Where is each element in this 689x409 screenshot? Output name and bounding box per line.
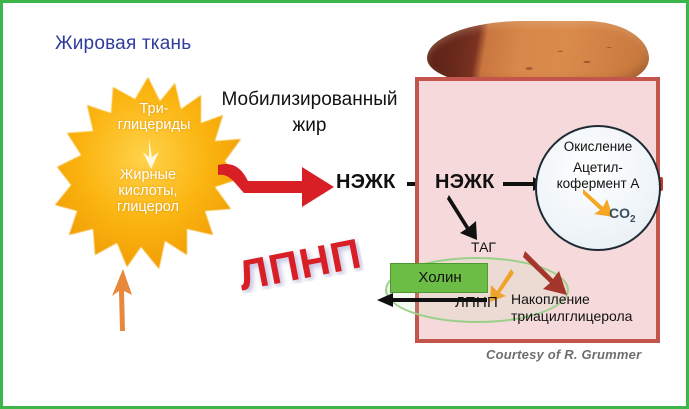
mobilized-fat-line-2: жир — [202, 113, 417, 139]
co2-label: CO2 — [609, 205, 636, 225]
nefa-hepatic-label: НЭЖК — [435, 171, 495, 194]
figure-container: Жировая ткань Три- глицериды Жирные кисл… — [0, 0, 689, 409]
mobilized-fat-line-1: Мобилизированный — [202, 87, 417, 113]
accumulation-label: Накопление триацилглицерола — [511, 291, 659, 325]
acetyl-coa-line-1: Ацетил- — [523, 160, 673, 176]
choline-box: Холин — [390, 263, 488, 293]
accumulation-arrow-icon — [523, 249, 571, 297]
hepatocyte-panel: НЭЖК ТАГ Окисление Ацетил- кофермент А C… — [415, 77, 660, 343]
co2-text: CO — [609, 205, 630, 221]
accumulation-line-1: Накопление — [511, 291, 659, 308]
nefa-plasma-label: НЭЖК — [336, 171, 396, 194]
ldl-stamp-label: ЛПНП — [235, 231, 365, 294]
accumulation-line-2: триацилглицерола — [511, 308, 659, 325]
credit-text: Courtesy of R. Grummer — [486, 347, 641, 362]
page-title: Жировая ткань — [55, 33, 191, 55]
choline-label: Холин — [391, 269, 489, 286]
ldl-hepatic-label: ЛПНП — [455, 294, 498, 311]
acetyl-coa-label: Ацетил- кофермент А — [523, 160, 673, 192]
tag-label: ТАГ — [471, 239, 496, 255]
nefa-to-tag-arrow-icon — [447, 193, 483, 241]
lipolysis-arrow-icon — [141, 139, 163, 169]
uptake-arrow-icon — [109, 269, 135, 331]
mobilized-fat-label: Мобилизированный жир — [202, 87, 417, 139]
mobilization-red-arrow-icon — [216, 161, 336, 209]
co2-subscript: 2 — [630, 214, 636, 225]
oxidation-mitochondrion: Окисление Ацетил- кофермент А CO2 — [535, 125, 661, 251]
oxidation-label: Окисление — [542, 139, 654, 154]
